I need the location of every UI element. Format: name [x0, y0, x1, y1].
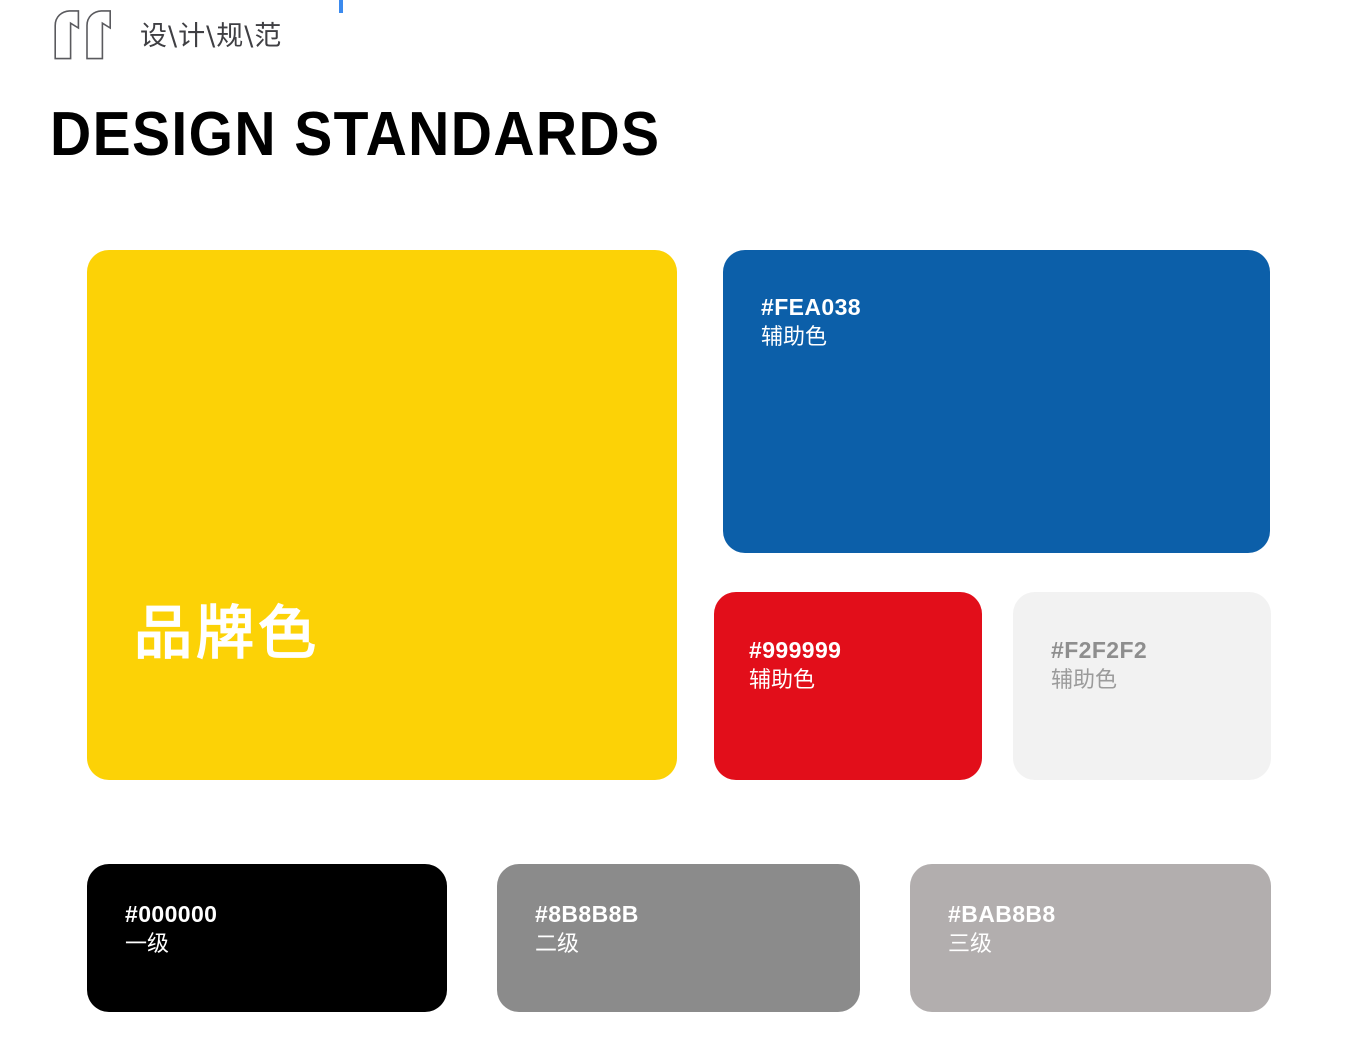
swatch-role-label: 辅助色 — [1051, 666, 1147, 697]
accent-tick — [339, 0, 343, 13]
swatch-accent-red: #999999 辅助色 — [714, 592, 982, 780]
swatch-text-group: #FEA038 辅助色 — [761, 292, 861, 354]
swatch-text-group: #999999 辅助色 — [749, 635, 841, 697]
swatch-text-group: #F2F2F2 辅助色 — [1051, 635, 1147, 697]
swatch-text-level-2: #8B8B8B 二级 — [497, 864, 860, 1012]
swatch-role-label: 二级 — [535, 930, 639, 961]
swatch-role-label: 辅助色 — [749, 666, 841, 697]
swatch-role-label: 三级 — [948, 930, 1056, 961]
swatch-text-group: #000000 一级 — [125, 899, 217, 961]
swatch-role-label: 一级 — [125, 930, 217, 961]
swatch-text-level-3: #BAB8B8 三级 — [910, 864, 1271, 1012]
swatch-text-level-1: #000000 一级 — [87, 864, 447, 1012]
swatch-hex-value: #000000 — [125, 899, 217, 930]
swatch-hex-value: #FEA038 — [761, 292, 861, 323]
swatch-hex-value: #BAB8B8 — [948, 899, 1056, 930]
swatch-hex-value: #8B8B8B — [535, 899, 639, 930]
swatch-hex-value: #999999 — [749, 635, 841, 666]
swatch-accent-blue: #FEA038 辅助色 — [723, 250, 1270, 553]
eyebrow-label: 设\计\规\范 — [140, 23, 282, 50]
swatch-text-group: #8B8B8B 二级 — [535, 899, 639, 961]
swatch-accent-light-gray: #F2F2F2 辅助色 — [1013, 592, 1271, 780]
swatch-hex-value: #F2F2F2 — [1051, 635, 1147, 666]
swatch-text-group: #BAB8B8 三级 — [948, 899, 1056, 961]
page-title: DESIGN STANDARDS — [50, 104, 660, 166]
swatch-brand-color: 品牌色 — [87, 250, 677, 780]
swatch-role-label: 辅助色 — [761, 323, 861, 354]
eyebrow: 设\计\规\范 — [52, 10, 282, 62]
brand-color-label: 品牌色 — [134, 604, 320, 662]
quote-mark-icon — [52, 10, 118, 62]
